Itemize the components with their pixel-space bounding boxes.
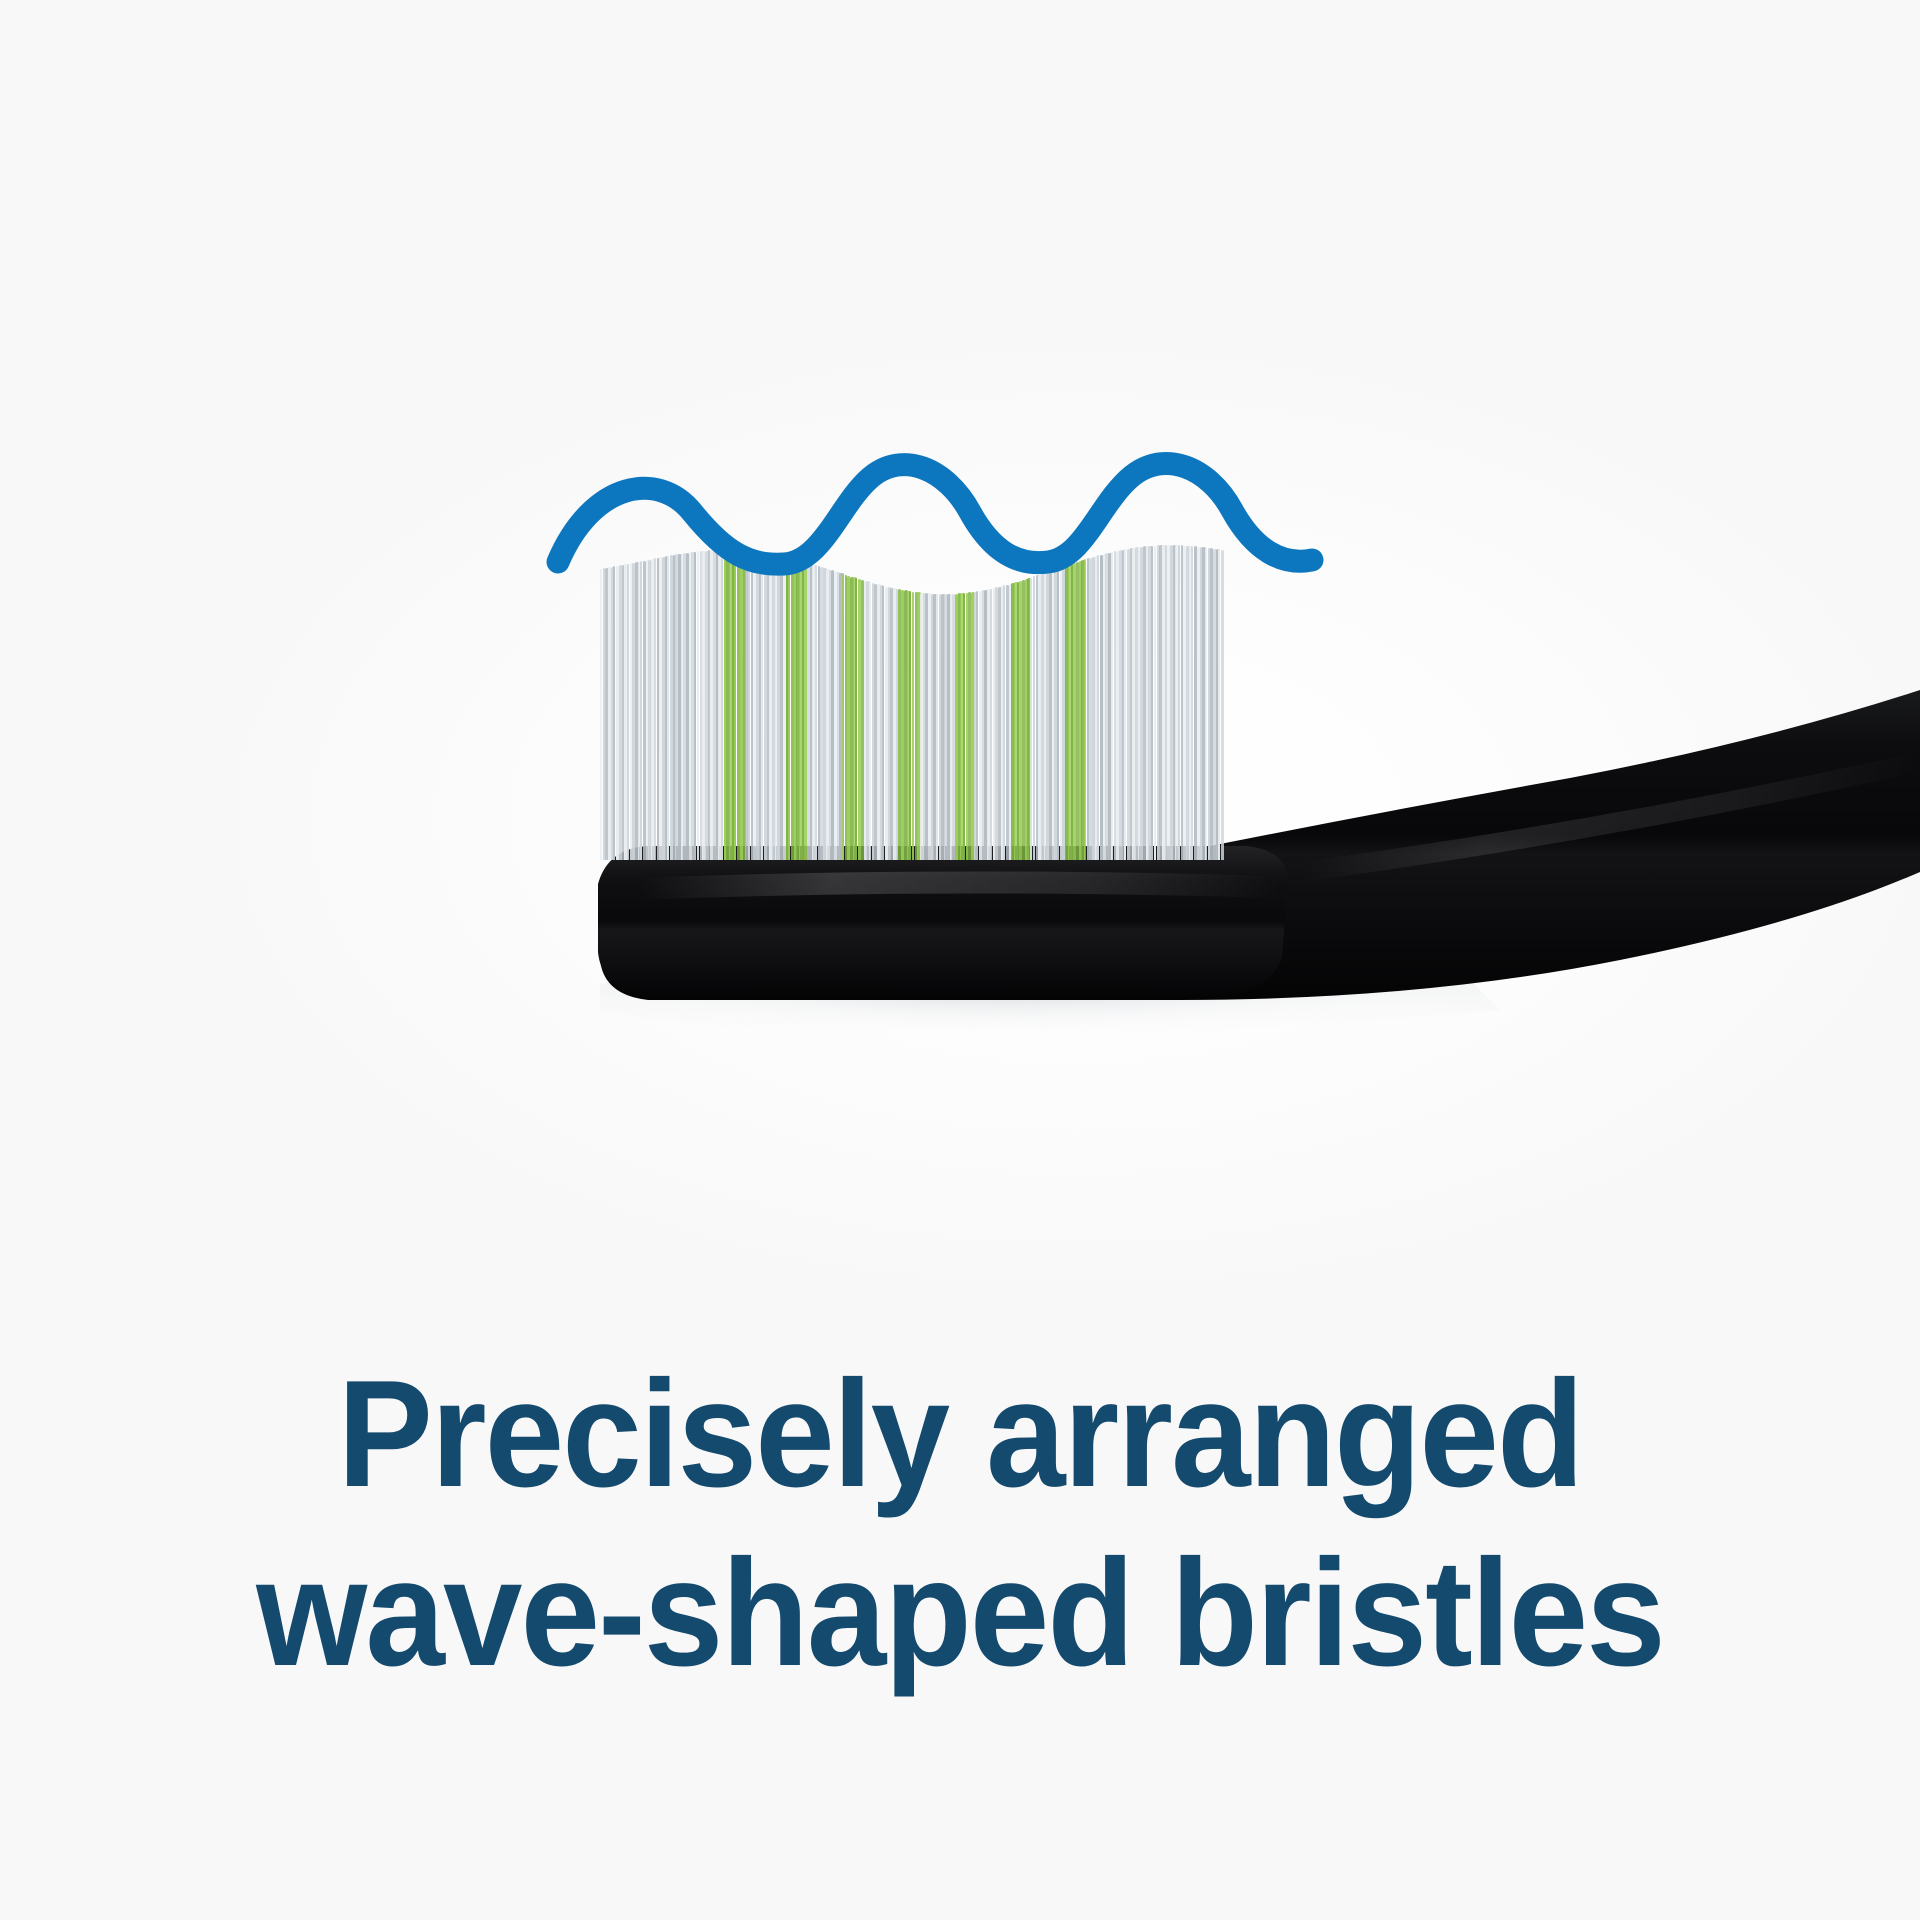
bristle (1124, 549, 1126, 860)
bristle (627, 564, 629, 860)
bristle (1084, 559, 1086, 860)
bristle (654, 558, 656, 860)
headline-line-1: Precisely arranged (58, 1345, 1863, 1524)
headline-line-2: wave-shaped bristles (58, 1524, 1863, 1703)
bristle (748, 551, 750, 860)
bristle (1030, 577, 1032, 860)
product-feature-card: Precisely arranged wave-shaped bristles (0, 0, 1920, 1920)
bristle (963, 593, 965, 860)
bristle (1178, 545, 1180, 860)
bristle (694, 552, 696, 860)
bristle (936, 594, 938, 860)
bristle (667, 556, 669, 860)
bristle (721, 550, 723, 860)
bristle (1057, 568, 1059, 860)
bristle (909, 591, 911, 860)
toothbrush-bristles (600, 548, 1225, 860)
bristle (869, 582, 871, 860)
product-photo (0, 0, 1920, 1320)
bristle (1221, 550, 1224, 860)
bristle (600, 569, 602, 861)
feature-caption: Precisely arranged wave-shaped bristles (0, 1345, 1920, 1704)
bristle (990, 589, 992, 860)
bristle (1205, 548, 1207, 861)
bristle (1003, 585, 1005, 860)
bristle (842, 574, 844, 860)
bristle (1111, 552, 1113, 860)
bristle (788, 558, 790, 860)
bristle (815, 565, 817, 860)
bristle (1151, 546, 1153, 860)
